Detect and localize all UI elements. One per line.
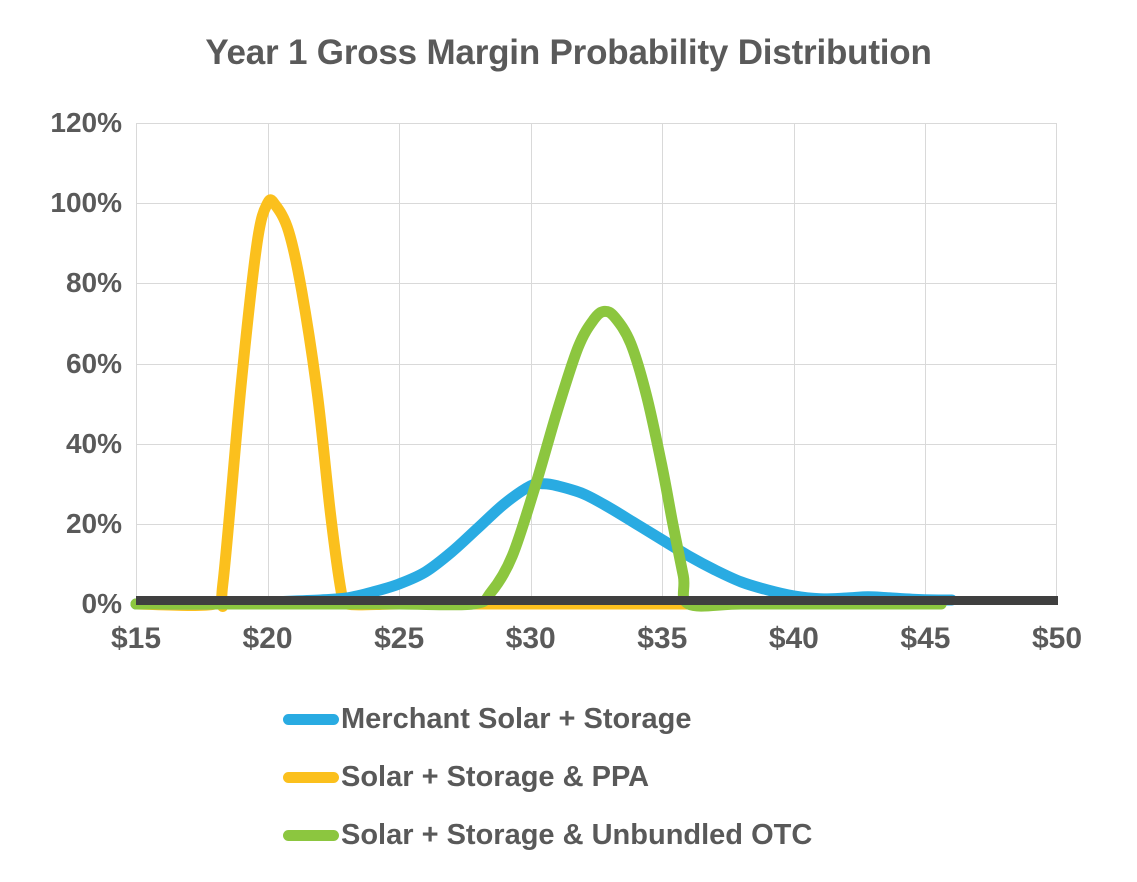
legend-item-label: Solar + Storage & Unbundled OTC	[341, 819, 812, 852]
legend-swatch-icon	[283, 772, 339, 783]
legend-item[interactable]: Solar + Storage & Unbundled OTC	[0, 806, 1137, 864]
x-axis-tick-label: $45	[900, 622, 950, 656]
x-axis-tick-label: $30	[506, 622, 556, 656]
x-axis-tick-label: $50	[1032, 622, 1082, 656]
y-axis-tick-label: 60%	[0, 348, 122, 380]
series-lines	[136, 123, 1057, 604]
legend-item-label: Solar + Storage & PPA	[341, 761, 649, 794]
legend-item[interactable]: Merchant Solar + Storage	[0, 690, 1137, 748]
y-axis-tick-label: 20%	[0, 508, 122, 540]
plot-area	[136, 123, 1057, 604]
x-axis-tick-label: $20	[243, 622, 293, 656]
y-axis-labels: 0%20%40%60%80%100%120%	[0, 123, 122, 604]
legend-swatch-icon	[283, 714, 339, 725]
y-axis-tick-label: 40%	[0, 428, 122, 460]
chart-title: Year 1 Gross Margin Probability Distribu…	[0, 33, 1137, 73]
x-axis-labels: $15$20$25$30$35$40$45$50	[136, 622, 1057, 666]
x-axis-line	[136, 596, 1058, 605]
x-axis-tick-label: $35	[637, 622, 687, 656]
series-line	[136, 311, 941, 606]
x-axis-tick-label: $15	[111, 622, 161, 656]
series-line	[136, 483, 952, 604]
y-axis-tick-label: 0%	[0, 588, 122, 620]
y-axis-tick-label: 120%	[0, 107, 122, 139]
legend-item-label: Merchant Solar + Storage	[341, 703, 692, 736]
legend-swatch-icon	[283, 830, 339, 841]
series-line	[136, 200, 725, 607]
y-axis-tick-label: 100%	[0, 187, 122, 219]
x-axis-tick-label: $25	[374, 622, 424, 656]
chart-container: Year 1 Gross Margin Probability Distribu…	[0, 0, 1137, 882]
x-axis-tick-label: $40	[769, 622, 819, 656]
y-axis-tick-label: 80%	[0, 267, 122, 299]
legend-item[interactable]: Solar + Storage & PPA	[0, 748, 1137, 806]
chart-legend: Merchant Solar + StorageSolar + Storage …	[0, 690, 1137, 864]
